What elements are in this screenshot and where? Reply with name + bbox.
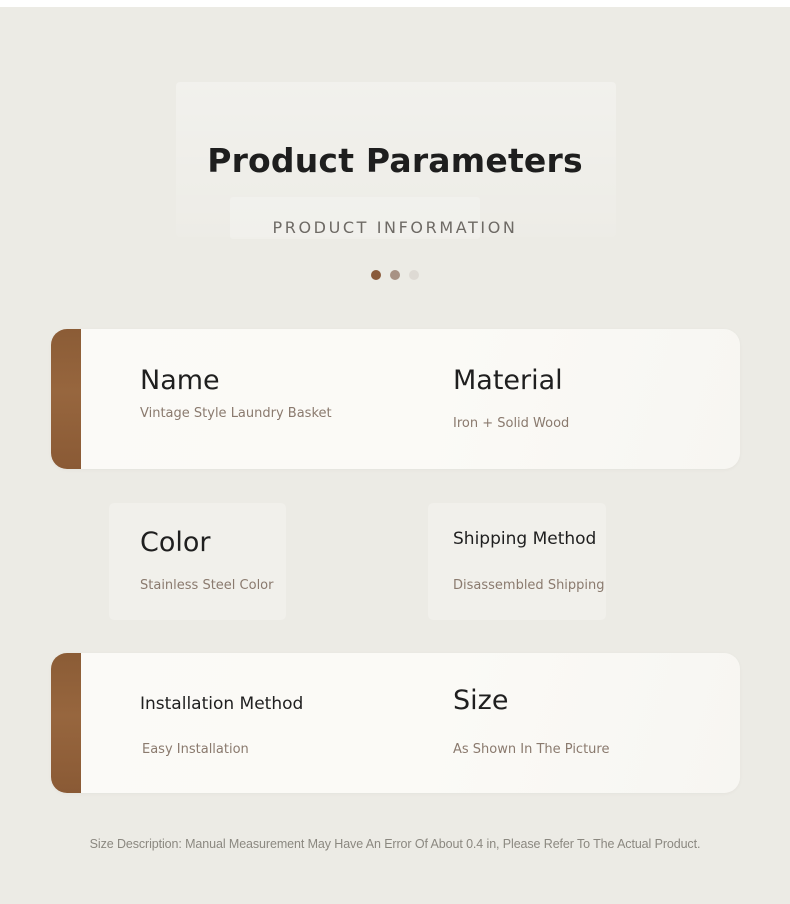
spec-cell-color: Color Stainless Steel Color xyxy=(140,495,420,635)
dot-3-icon[interactable] xyxy=(409,270,419,280)
spec-label: Size xyxy=(453,685,508,717)
spec-value: Easy Installation xyxy=(142,741,249,758)
page-title: Product Parameters xyxy=(0,139,790,183)
spec-value: Iron + Solid Wood xyxy=(453,415,569,432)
product-parameters-page: Product Parameters PRODUCT INFORMATION N… xyxy=(0,7,790,904)
spec-label: Name xyxy=(140,365,220,397)
card-accent-bar xyxy=(51,653,81,793)
size-description-note: Size Description: Manual Measurement May… xyxy=(0,835,790,853)
spec-value: Disassembled Shipping xyxy=(453,577,605,594)
spec-value: Stainless Steel Color xyxy=(140,577,274,594)
page-header: Product Parameters PRODUCT INFORMATION xyxy=(0,7,790,307)
spec-row-installation-size: Installation Method Easy Installation Si… xyxy=(51,653,740,793)
spec-value: Vintage Style Laundry Basket xyxy=(140,405,355,422)
spec-cell-material: Material Iron + Solid Wood xyxy=(453,329,733,469)
spec-label: Material xyxy=(453,365,563,397)
spec-cell-shipping-method: Shipping Method Disassembled Shipping xyxy=(453,495,733,635)
spec-label: Color xyxy=(140,527,211,559)
spec-cell-name: Name Vintage Style Laundry Basket xyxy=(140,329,420,469)
dot-2-icon[interactable] xyxy=(390,270,400,280)
spec-label: Shipping Method xyxy=(453,528,596,550)
spec-row-name-material: Name Vintage Style Laundry Basket Materi… xyxy=(51,329,740,469)
page-subtitle: PRODUCT INFORMATION xyxy=(0,216,790,240)
spec-row-color-shipping: Color Stainless Steel Color Shipping Met… xyxy=(51,495,740,635)
spec-label: Installation Method xyxy=(140,693,303,715)
carousel-dots[interactable] xyxy=(0,270,790,280)
card-accent-bar xyxy=(51,329,81,469)
dot-1-icon[interactable] xyxy=(371,270,381,280)
spec-value: As Shown In The Picture xyxy=(453,741,609,758)
spec-cell-size: Size As Shown In The Picture xyxy=(453,653,733,793)
spec-cell-installation-method: Installation Method Easy Installation xyxy=(140,653,420,793)
